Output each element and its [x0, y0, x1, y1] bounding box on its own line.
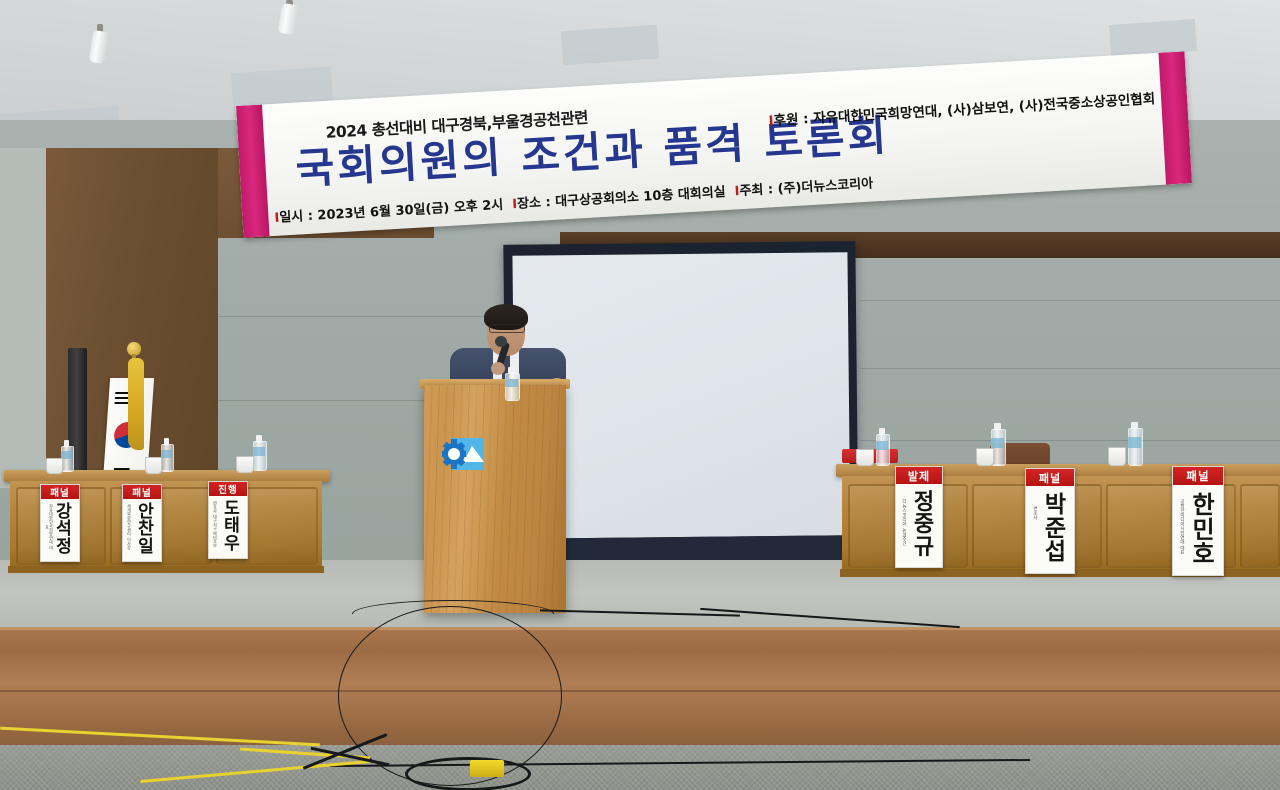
wall-seam: [860, 300, 1280, 301]
water-bottle: [505, 367, 518, 399]
name-card: 패널 안찬일 세계북한연구센터 이사장: [122, 484, 162, 562]
name-card-role: 패널: [41, 485, 79, 499]
name-card-role: 패널: [123, 485, 161, 499]
name-card: 발제 정중규 더뉴스코리아 논설주간: [895, 466, 943, 568]
name-card: 패널 박준섭 변호사: [1025, 468, 1075, 574]
microphone-head-icon: [495, 336, 507, 347]
water-bottle: [161, 438, 172, 470]
banner-date: 일시 : 2023년 6월 30일(금) 오후 2시: [279, 198, 504, 226]
name-card-affiliation: 세계북한연구센터 이사장: [127, 503, 131, 551]
banner-sponsors: I후원 : 자유대한민국희망연대, (사)삼보연, (사)전국중소상공인협회: [768, 87, 1156, 129]
chamber-of-commerce-emblem-icon: [440, 435, 486, 473]
ceiling-panel: [561, 25, 659, 66]
name-card-affiliation: 변호사 대구서구 예비후보: [213, 500, 217, 548]
floor-carpet-texture: [0, 745, 1280, 790]
banner-sponsor-text: 후원 : 자유대한민국희망연대, (사)삼보연, (사)전국중소상공인협회: [773, 91, 1155, 129]
stage-panel-seam: [0, 690, 1280, 692]
paper-cup: [976, 448, 994, 466]
speaker-hand: [491, 362, 505, 375]
water-bottle: [876, 428, 888, 464]
conference-hall-photo: 2024 총선대비 대구경북,부울경공천관련 국회의원의 조건과 품격 토론회 …: [0, 0, 1280, 790]
name-card: 패널 강석정 자유대한민국희망연대 대표: [40, 484, 80, 562]
podium-wood-grain: [424, 385, 566, 613]
name-card-role: 진행: [209, 482, 247, 496]
paper-cup: [145, 457, 162, 474]
paper-cup: [856, 449, 874, 466]
paper-cup: [46, 458, 63, 474]
name-card-role: 패널: [1026, 469, 1074, 486]
flag-tassel: [128, 358, 144, 450]
glasses-icon: [489, 324, 525, 333]
wall-seam: [860, 440, 1280, 441]
name-card: 패널 한민호 공정한미디어시민연대 대표: [1172, 466, 1224, 576]
name-card-affiliation: 변호사: [1032, 493, 1037, 533]
podium: [424, 385, 566, 613]
paper-cup: [1108, 447, 1126, 466]
stage-front-panel: [0, 630, 1280, 748]
yellow-connector-box: [470, 760, 504, 777]
wall-seam: [860, 368, 1280, 369]
name-card-affiliation: 공정한미디어시민연대 대표: [1179, 491, 1184, 563]
banner-host: 주최 : (주)더뉴스코리아: [739, 176, 873, 199]
cable-coil: [405, 757, 531, 790]
name-card-role: 패널: [1173, 467, 1223, 485]
name-card: 진행 도태우 변호사 대구서구 예비후보: [208, 481, 248, 559]
paper-cup: [236, 456, 254, 473]
name-card-affiliation: 더뉴스코리아 논설주간: [901, 489, 906, 555]
water-bottle: [253, 435, 265, 469]
name-card-affiliation: 자유대한민국희망연대 대표: [45, 503, 53, 551]
left-table-foot: [8, 566, 324, 573]
banner-place: 장소 : 대구상공회의소 10층 대회의실: [517, 185, 726, 212]
water-bottle: [1128, 422, 1141, 464]
name-card-role: 발제: [896, 467, 942, 484]
